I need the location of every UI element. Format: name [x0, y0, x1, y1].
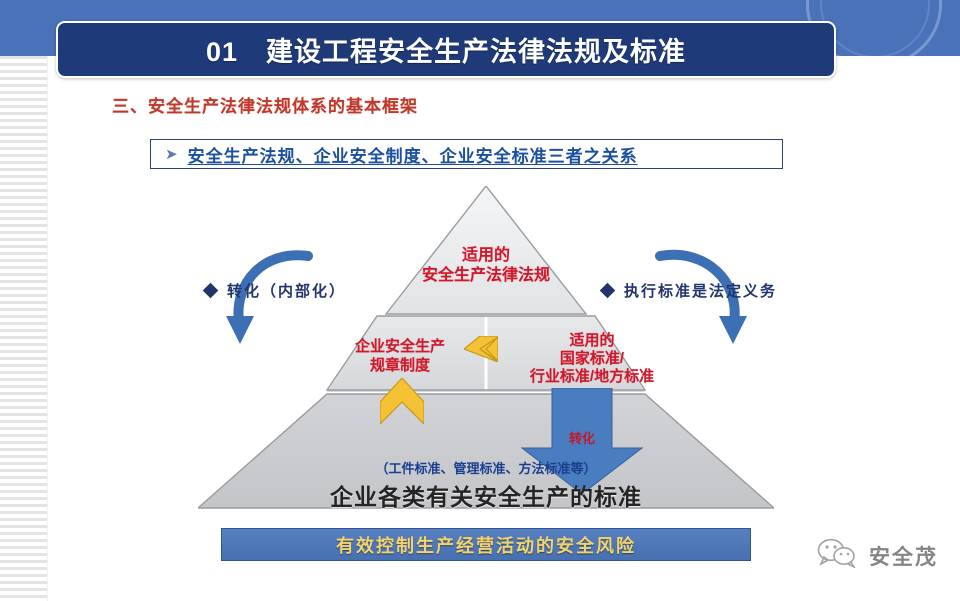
- pyramid-mid-left-label: 企业安全生产 规章制度: [332, 338, 468, 376]
- slide-title-bar: 01 建设工程安全生产法律法规及标准: [56, 21, 836, 78]
- pyramid-base-label: 企业各类有关安全生产的标准: [330, 478, 642, 512]
- wechat-icon: [817, 538, 859, 573]
- pyramid-mid-left-line1: 企业安全生产: [332, 338, 468, 357]
- adopt-left-arrow-icon: [464, 336, 498, 362]
- subtitle-box: ➤ 安全生产法规、企业安全制度、企业安全标准三者之关系: [150, 139, 783, 169]
- internalize-up-arrow-icon: [380, 378, 424, 424]
- pyramid-mid-right-line2: 国家标准/: [494, 350, 690, 368]
- diamond-bullet-right-icon: [600, 283, 616, 299]
- section-heading: 三、安全生产法律法规体系的基本框架: [112, 92, 418, 117]
- arrow-bullet-icon: ➤: [165, 147, 178, 162]
- page-title: 01 建设工程安全生产法律法规及标准: [206, 30, 686, 69]
- note-left: 转化（内部化）: [205, 280, 346, 301]
- pyramid-top-label: 适用的 安全生产法律法规: [422, 246, 550, 286]
- note-right-text: 执行标准是法定义务: [624, 280, 777, 301]
- subtitle-text: 安全生产法规、企业安全制度、企业安全标准三者之关系: [188, 142, 638, 167]
- pyramid-top-line2: 安全生产法律法规: [422, 266, 550, 286]
- bottom-goal-bar: 有效控制生产经营活动的安全风险: [221, 528, 751, 561]
- pyramid-diagram: 适用的 安全生产法律法规 企业安全生产 规章制度 适用的 国家标准/ 行业标准/…: [198, 186, 774, 526]
- watermark: 安全茂: [817, 538, 938, 573]
- pyramid-mid-left-line2: 规章制度: [332, 357, 468, 376]
- down-arrow-label: 转化: [516, 428, 648, 447]
- slide-canvas: 01 建设工程安全生产法律法规及标准 三、安全生产法律法规体系的基本框架 ➤ 安…: [0, 0, 960, 601]
- pyramid-top-line1: 适用的: [422, 246, 550, 266]
- pyramid-base-sublabel: （工件标准、管理标准、方法标准等）: [375, 458, 596, 477]
- note-left-text: 转化（内部化）: [227, 280, 346, 301]
- left-stripe-edge: [47, 56, 48, 601]
- pyramid-mid-right-line3: 行业标准/地方标准: [494, 368, 690, 386]
- diamond-bullet-left-icon: [203, 283, 219, 299]
- note-right: 执行标准是法定义务: [602, 280, 777, 301]
- watermark-text: 安全茂: [869, 541, 938, 571]
- bottom-goal-text: 有效控制生产经营活动的安全风险: [336, 532, 636, 558]
- left-stripe-decoration: [0, 56, 48, 601]
